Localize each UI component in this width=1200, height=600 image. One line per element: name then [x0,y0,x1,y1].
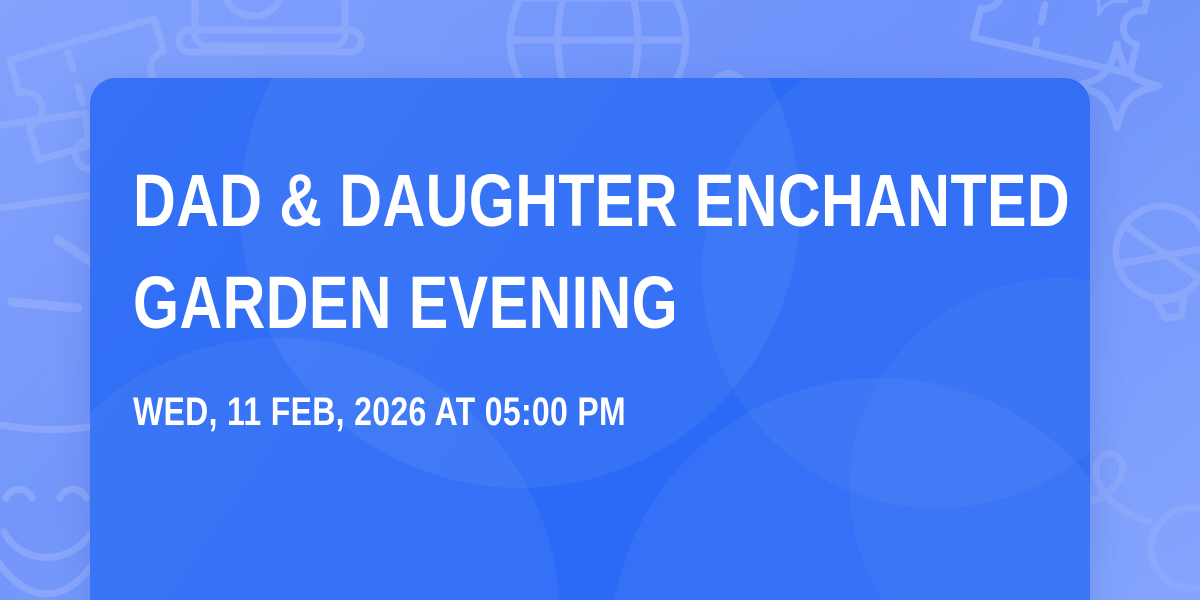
event-title-line-2: Garden Evening [133,252,864,354]
card-content: Dad & Daughter Enchanted Garden Evening … [133,78,1047,434]
event-banner: Dad & Daughter Enchanted Garden Evening … [0,0,1200,600]
event-title-line-1: Dad & Daughter Enchanted [133,150,864,252]
event-datetime: Wed, 11 Feb, 2026 at 05:00 PM [133,390,864,434]
event-title: Dad & Daughter Enchanted Garden Evening [133,150,864,354]
event-card: Dad & Daughter Enchanted Garden Evening … [90,78,1090,600]
